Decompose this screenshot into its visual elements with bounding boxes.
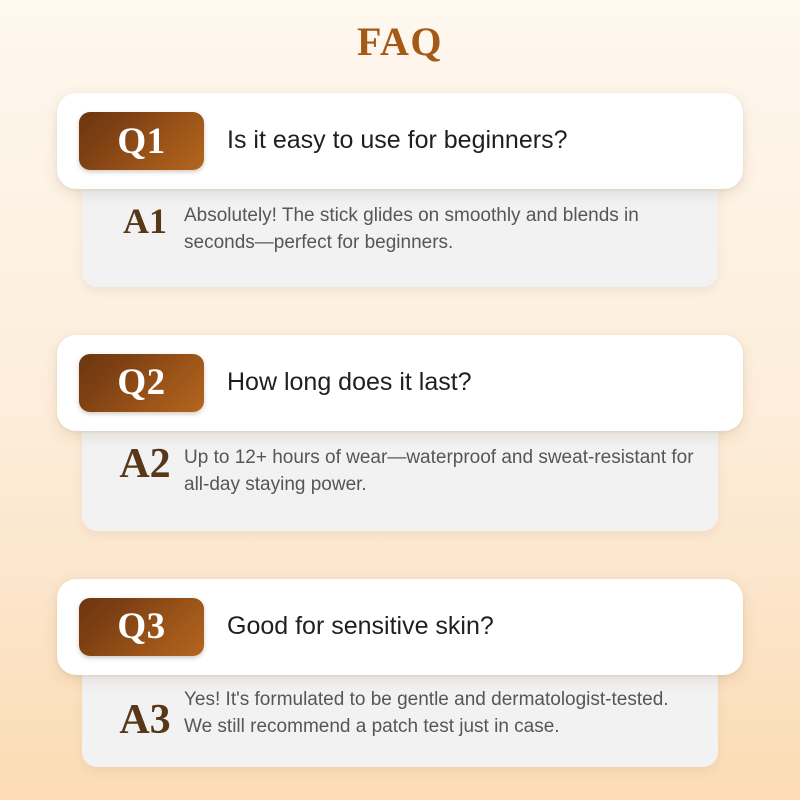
answer-panel: A1 Absolutely! The stick glides on smoot… (82, 177, 718, 287)
question-badge: Q2 (79, 354, 204, 412)
answer-text: Absolutely! The stick glides on smoothly… (184, 201, 694, 257)
question-card[interactable]: Q2 How long does it last? (57, 335, 743, 431)
answer-text: Yes! It's formulated to be gentle and de… (184, 685, 694, 741)
question-badge: Q3 (79, 598, 204, 656)
answer-label: A1 (106, 203, 184, 239)
faq-item[interactable]: Q2 How long does it last? A2 Up to 12+ h… (0, 335, 800, 531)
faq-item[interactable]: Q1 Is it easy to use for beginners? A1 A… (0, 93, 800, 287)
section-spacer (0, 287, 800, 335)
section-spacer (0, 531, 800, 579)
answer-panel: A2 Up to 12+ hours of wear—waterproof an… (82, 419, 718, 531)
question-card[interactable]: Q3 Good for sensitive skin? (57, 579, 743, 675)
answer-label: A2 (106, 443, 184, 485)
question-text: How long does it last? (204, 367, 721, 398)
answer-text: Up to 12+ hours of wear—waterproof and s… (184, 443, 694, 499)
faq-list: Q1 Is it easy to use for beginners? A1 A… (0, 93, 800, 767)
question-text: Is it easy to use for beginners? (204, 125, 721, 156)
question-text: Good for sensitive skin? (204, 611, 721, 642)
question-badge: Q1 (79, 112, 204, 170)
answer-panel: A3 Yes! It's formulated to be gentle and… (82, 663, 718, 767)
page-title: FAQ (0, 20, 800, 64)
question-card[interactable]: Q1 Is it easy to use for beginners? (57, 93, 743, 189)
answer-label: A3 (106, 699, 184, 741)
faq-page: FAQ Q1 Is it easy to use for beginners? … (0, 0, 800, 800)
faq-item[interactable]: Q3 Good for sensitive skin? A3 Yes! It's… (0, 579, 800, 767)
